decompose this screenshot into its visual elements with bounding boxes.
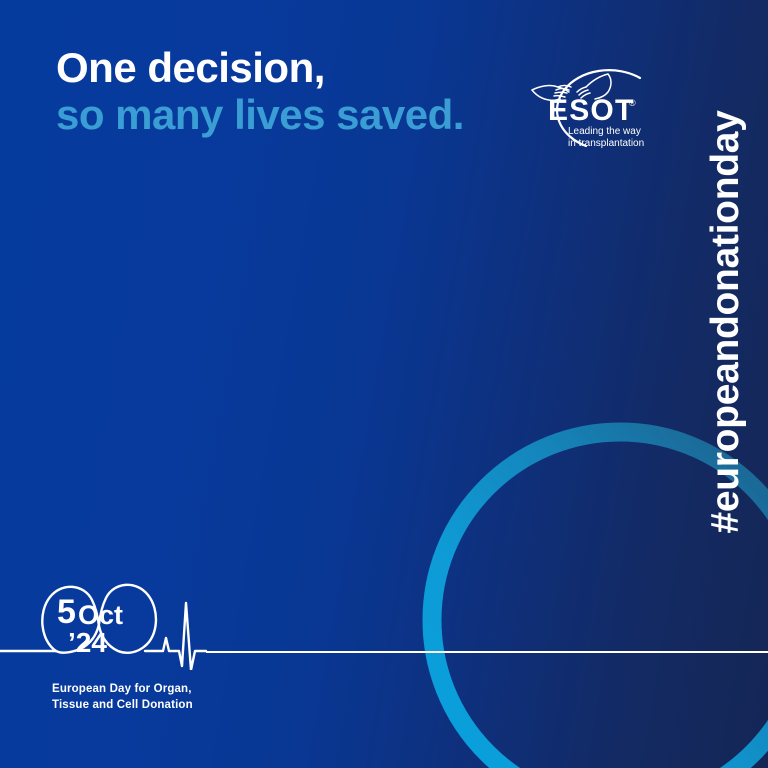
event-caption: European Day for Organ, Tissue and Cell … [52,682,193,713]
event-month: Oct [78,600,123,630]
poster-canvas: One decision, so many lives saved. [0,0,768,768]
esot-wordmark: ESOT [548,94,634,127]
hashtag-text: #europeandonationday [704,110,748,533]
event-caption-line-2: Tissue and Cell Donation [52,698,193,714]
page-title: One decision, so many lives saved. [56,45,464,138]
european-donation-day-logo: 5 Oct ’24 [0,540,300,670]
event-caption-line-1: European Day for Organ, [52,682,193,698]
event-day: 5 [57,593,76,631]
esot-trademark: ® [629,98,636,108]
esot-tagline-line-1: Leading the way [568,126,641,137]
esot-tagline-line-2: in transplantation [568,138,644,149]
event-year: ’24 [68,627,107,658]
headline-line-2: so many lives saved. [56,92,464,137]
esot-logo: ESOT ® Leading the way in transplantatio… [512,48,662,152]
headline-line-1: One decision, [56,45,464,90]
ecg-heartbeat-line [145,603,206,670]
